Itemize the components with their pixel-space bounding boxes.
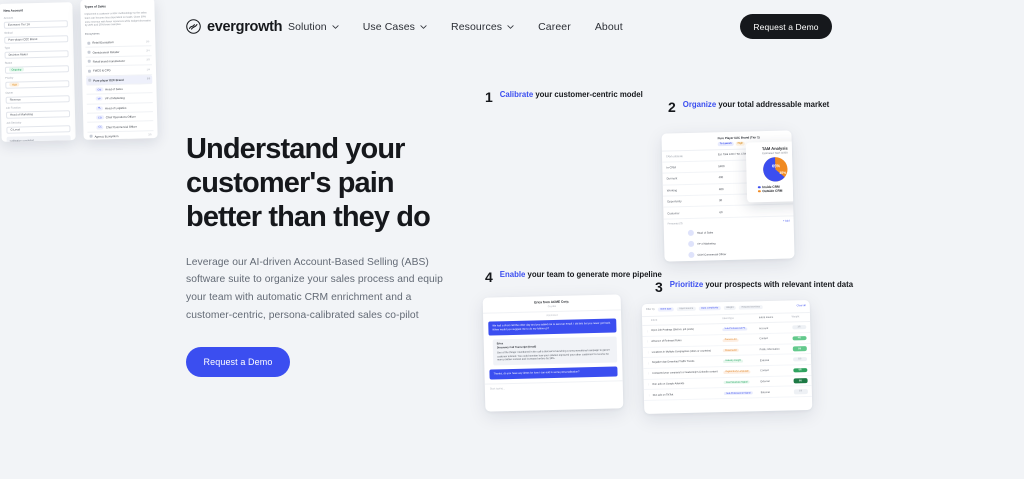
field-label: Account <box>4 15 68 20</box>
row-meta: 3/3 <box>146 59 149 62</box>
cell-intent-source: External <box>760 379 793 383</box>
row-label: Dormant <box>667 176 719 181</box>
weight-badge: 4/5 <box>792 336 807 341</box>
list-item-label: Agency Ecosystem <box>95 134 119 139</box>
cell-intent: Locations in Multiple Geographies (citie… <box>652 349 723 354</box>
chevron-down-icon <box>420 25 427 29</box>
form-title: New Account <box>3 7 67 13</box>
status-badge: To Launch <box>718 141 734 145</box>
field-value: Head of Marketing <box>10 112 33 117</box>
tam-header-spacer <box>666 136 718 147</box>
field-label: Vertical <box>4 30 68 35</box>
copilot-chat-card: Erica from ACME Corp. Co-pilot 05/02/202… <box>483 294 624 411</box>
svg-text:35%: 35% <box>779 171 786 175</box>
persona-name: VP of Marketing <box>697 242 715 245</box>
nav-item-solution-label: Solution <box>288 21 327 33</box>
legend-label: Outside CRM <box>762 189 782 193</box>
list-item-label: Head of Logistics <box>105 106 127 111</box>
chat-input[interactable]: Start typing... <box>485 380 623 393</box>
field-value: Eurowave Tier 1A <box>8 22 30 27</box>
filter-chip-intent-source[interactable]: Intent source <box>677 306 696 311</box>
step-rest: your prospects with relevant intent data <box>703 280 853 289</box>
list-item-label: FMCG & CPG <box>93 69 111 73</box>
column-header-intent-source: Intent source <box>759 316 792 320</box>
field-value: Decision Maker <box>9 52 28 56</box>
new-account-form-panel: New Account Account Eurowave Tier 1A Ver… <box>0 2 76 142</box>
type-badge: Sub-Professional Fit <box>723 327 748 331</box>
step-text: Organize your total addressable market <box>683 99 829 110</box>
ecosystem-title: Types of Sales <box>84 3 150 9</box>
status-badge: Ongoing <box>9 67 24 71</box>
weight-badge: 1/5 <box>792 325 807 330</box>
step-keyword: Enable <box>500 270 526 279</box>
field-label: Job Function <box>6 105 70 110</box>
nav-links: Solution Use Cases Resources Career Abou… <box>288 21 623 33</box>
list-item-label: Retail brand manufacturer <box>93 59 125 64</box>
field-input[interactable]: Ongoing <box>5 65 69 74</box>
chat-message-assistant: Erica Discovery Call Transcript (Gmail) … <box>493 336 618 366</box>
weight-badge: 1/5 <box>793 389 808 394</box>
legend-swatch-icon <box>758 186 761 189</box>
column-header-weight: Weight <box>792 315 807 318</box>
assistant-text: One of the things I mentioned in the cal… <box>497 348 610 362</box>
row-label: Customer <box>667 210 719 215</box>
legend-item-outside-crm: Outside CRM <box>758 188 795 193</box>
nav-item-career-label: Career <box>538 21 571 33</box>
cell-intent-type: Sub-Professional Signal <box>724 391 761 395</box>
step-rest: your customer-centric model <box>533 90 643 99</box>
row-meta: 2/4 <box>146 49 149 52</box>
bullet-icon <box>88 79 91 82</box>
row-label: Working <box>667 187 719 192</box>
avatar <box>688 241 694 247</box>
bullet-icon <box>88 60 91 63</box>
step-text: Calibrate your customer-centric model <box>500 89 643 100</box>
row-value: 90 <box>719 198 722 202</box>
column-header-intent-type: Intent type <box>722 317 759 321</box>
row-meta: 2/5 <box>148 134 151 137</box>
form-field-type: Type Decision Maker <box>4 45 68 58</box>
bullet-icon <box>90 135 93 138</box>
nav-item-use-cases-label: Use Cases <box>363 21 415 33</box>
step-label-calibrate: 1 Calibrate your customer-centric model <box>485 89 643 104</box>
step-text: Prioritize your prospects with relevant … <box>670 279 853 290</box>
step-rest: your total addressable market <box>716 100 829 109</box>
step-label-prioritize: 3 Prioritize your prospects with relevan… <box>655 279 853 294</box>
hero-request-demo-button[interactable]: Request a Demo <box>186 347 290 377</box>
field-value: Pure-player D2C Brand <box>8 37 37 42</box>
type-badge: Industry Insight <box>723 360 743 363</box>
cell-intent-type: Persona Fit <box>723 348 760 352</box>
tam-donut-chart: 65% 35% <box>758 155 793 183</box>
row-label: TAM estimate <box>666 153 718 158</box>
cell-weight: 1/5 <box>792 325 807 330</box>
circle-wave-logo-icon <box>186 19 201 34</box>
step-keyword: Calibrate <box>500 90 533 99</box>
chat-header: Erica from ACME Corp. Co-pilot <box>483 294 621 313</box>
field-label: Owner <box>5 90 69 95</box>
list-item-label: Retail Ecosystem <box>92 40 114 45</box>
filter-chip-request-services[interactable]: Request services <box>739 305 762 310</box>
form-field-account: Account Eurowave Tier 1A <box>4 15 68 28</box>
row-value: 400 <box>719 176 724 180</box>
field-label: Priority <box>5 75 69 80</box>
persona-chip: CC <box>96 125 104 129</box>
bullet-icon <box>87 41 90 44</box>
cell-weight: 5/5 <box>793 368 808 373</box>
field-value: C-Level <box>10 127 20 131</box>
bullet-icon <box>88 51 91 54</box>
type-badge: Persona Fit <box>723 349 739 352</box>
form-field-job-seniority: Job Seniority C-Level <box>6 120 70 133</box>
chevron-down-icon <box>507 25 514 29</box>
avatar <box>688 252 694 258</box>
cell-intent-source: Contact <box>759 337 792 341</box>
field-label: Job Seniority <box>6 120 70 125</box>
priority-badge: High <box>9 82 19 86</box>
form-field-owner: Owner Revenue <box>5 90 69 103</box>
cell-intent-type: Digital Body Language <box>724 369 761 373</box>
persona-name: Head of Sales <box>697 231 713 234</box>
list-item-label: Omnichannel Retailer <box>92 50 119 55</box>
legend-swatch-icon <box>758 190 761 193</box>
list-item-label: Chief Operations Officer <box>106 115 136 120</box>
persona-chip: CM <box>95 87 103 91</box>
filter-chip-intent-type[interactable]: Intent type <box>658 307 674 312</box>
persona-chip: VP <box>96 97 103 101</box>
nav-item-resources-label: Resources <box>451 21 502 33</box>
step-number: 2 <box>668 100 676 114</box>
cell-intent: Negative App Download Traffic Trends <box>652 360 723 365</box>
ecosystem-subtitle: Ecosystems <box>85 31 151 36</box>
cell-intent-type: Persona Fit <box>723 337 760 341</box>
persona-chip: CO <box>96 116 104 120</box>
field-input[interactable]: Pure-player D2C Brand <box>4 35 68 44</box>
weight-badge: 5/5 <box>793 368 808 373</box>
form-field-status: Status Ongoing <box>5 60 69 73</box>
cell-intent-type: Sub-Professional Fit <box>722 327 759 331</box>
cell-weight: 1/5 <box>793 357 808 362</box>
nav-item-resources[interactable]: Resources <box>451 21 514 33</box>
weight-badge: 5/5 <box>793 378 808 383</box>
nav-item-career[interactable]: Career <box>538 21 571 33</box>
nav-request-demo-button[interactable]: Request a Demo <box>740 14 832 39</box>
priority-badge: High <box>736 141 745 145</box>
ecosystem-panel: Types of Sales Implement a customer-cent… <box>80 0 157 140</box>
step-label-enable: 4 Enable your team to generate more pipe… <box>485 269 662 284</box>
column-header-intent: Intent <box>651 317 722 322</box>
intent-table-card: Filter by Intent type Intent source Data… <box>642 300 813 414</box>
calibration-note: Calibration completed Head, VP, Director… <box>7 135 71 142</box>
chat-message-user: Thanks, do you have any ideas for how I … <box>489 367 617 380</box>
list-item[interactable]: Chief Commercial Officer <box>664 247 794 261</box>
step-rest: your team to generate more pipeline <box>525 270 661 279</box>
form-field-vertical: Vertical Pure-player D2C Brand <box>4 30 68 43</box>
type-badge: Sub-Professional Signal <box>724 391 753 395</box>
cell-weight: 5/5 <box>793 378 808 383</box>
weight-badge: 1/5 <box>793 357 808 362</box>
hero-section: Understand your customer's pain better t… <box>186 133 456 377</box>
list-item-label: Chief Commercial Officer <box>106 124 137 129</box>
clear-filters-button[interactable]: Clear all <box>797 304 806 307</box>
calibrate-screenshot-card: New Account Account Eurowave Tier 1A Ver… <box>0 0 158 144</box>
step-label-organize: 2 Organize your total addressable market <box>668 99 829 114</box>
cell-weight: 4/5 <box>792 336 807 341</box>
cell-intent-source: External <box>760 358 793 362</box>
list-item-label: VP of Marketing <box>105 96 125 100</box>
cell-intent: Run ads on TikTok <box>653 392 724 397</box>
persona-name: Chief Commercial Officer <box>697 253 726 257</box>
filter-chip-data-complexity[interactable]: Data complexity <box>699 306 721 311</box>
cell-intent-source: Account <box>759 326 792 330</box>
chat-message-user: We had a short call the other day and yo… <box>488 318 616 335</box>
type-badge: Persona Fit <box>723 338 739 341</box>
field-value: Revenue <box>10 97 21 101</box>
brand-logo[interactable]: evergrowth <box>186 19 282 35</box>
tam-analysis-popover: TAM Analysis Estimated TAM: 8,000 65% 35… <box>746 141 795 202</box>
persona-chip: HL <box>96 106 103 110</box>
cell-weight: 3/5 <box>792 346 807 351</box>
svg-text:65%: 65% <box>772 163 781 168</box>
field-input[interactable]: Revenue <box>6 95 70 104</box>
hero-description: Leverage our AI-driven Account-Based Sel… <box>186 254 456 325</box>
type-badge: Digital Body Language <box>724 370 751 374</box>
cell-intent: Open Job Postings (Skill vs. job posts) <box>651 327 722 332</box>
headline-line-1: Understand your <box>186 133 405 165</box>
ecosystem-paragraph: Implement a customer-centric methodology… <box>85 11 151 28</box>
brand-name: evergrowth <box>207 19 282 35</box>
filter-chip-weight[interactable]: Weight <box>724 305 737 310</box>
row-meta: 5/5 <box>147 77 150 80</box>
account-name: Pure Player D2C Brand (Tier 1) <box>718 135 760 140</box>
field-input[interactable]: Eurowave Tier 1A <box>4 20 68 29</box>
chevron-down-icon <box>332 25 339 29</box>
personas-label: Personas (3) <box>668 222 683 225</box>
step-keyword: Prioritize <box>670 280 703 289</box>
cell-intent: Absence of Relevant Roles <box>651 338 722 343</box>
field-label: Type <box>4 45 68 50</box>
field-input[interactable]: C-Level <box>6 125 70 134</box>
cell-intent-source: Contact <box>760 369 793 373</box>
cell-intent-source: External <box>761 390 794 394</box>
row-label: Opportunity <box>667 198 719 203</box>
form-field-job-function: Job Function Head of Marketing <box>6 105 70 118</box>
field-label: Status <box>5 60 69 65</box>
type-badge: Cost Structure Signal <box>724 381 750 385</box>
list-item-label: Head of Sales <box>105 87 123 91</box>
add-persona-button[interactable]: + Add <box>783 219 790 222</box>
list-item[interactable]: Agency Ecosystem2/5 <box>88 131 154 140</box>
step-keyword: Organize <box>683 100 716 109</box>
nav-item-about-label: About <box>595 21 623 33</box>
cell-intent-type: Cost Structure Signal <box>724 380 761 384</box>
cell-weight: 1/5 <box>793 389 808 394</box>
cell-intent-source: Public Information <box>760 347 793 351</box>
row-meta: 1/4 <box>147 68 150 71</box>
list-item-label: Pure player D2C Brand <box>93 78 124 83</box>
step-number: 1 <box>485 90 493 104</box>
row-label: In-CRM <box>666 164 718 169</box>
cell-intent: Run ads on Google Adwords <box>652 381 723 386</box>
nav-item-use-cases[interactable]: Use Cases <box>363 21 427 33</box>
headline-line-3: better than they do <box>186 201 430 233</box>
weight-badge: 3/5 <box>792 346 807 351</box>
bullet-icon <box>88 69 91 72</box>
form-field-priority: Priority High <box>5 75 69 88</box>
cell-intent: Contacted your company's or leadership's… <box>652 370 723 375</box>
field-input[interactable]: High <box>5 80 69 89</box>
row-value: 480 <box>719 187 724 191</box>
filter-label: Filter by <box>646 308 655 311</box>
avatar <box>688 230 694 236</box>
note-label: Calibration completed <box>10 138 68 142</box>
nav-item-about[interactable]: About <box>595 21 623 33</box>
headline-line-2: customer's pain <box>186 167 394 199</box>
row-value: 5400 <box>718 164 724 168</box>
cell-intent-type: Industry Insight <box>723 359 760 363</box>
row-meta: 3/5 <box>146 40 149 43</box>
field-input[interactable]: Head of Marketing <box>6 110 70 119</box>
row-value: 60 <box>719 210 722 214</box>
field-input[interactable]: Decision Maker <box>4 50 68 59</box>
nav-item-solution[interactable]: Solution <box>288 21 339 33</box>
step-text: Enable your team to generate more pipeli… <box>500 269 662 280</box>
page-title: Understand your customer's pain better t… <box>186 133 456 235</box>
step-number: 4 <box>485 270 493 284</box>
tam-screenshot-card: Pure Player D2C Brand (Tier 1) To Launch… <box>661 130 794 261</box>
